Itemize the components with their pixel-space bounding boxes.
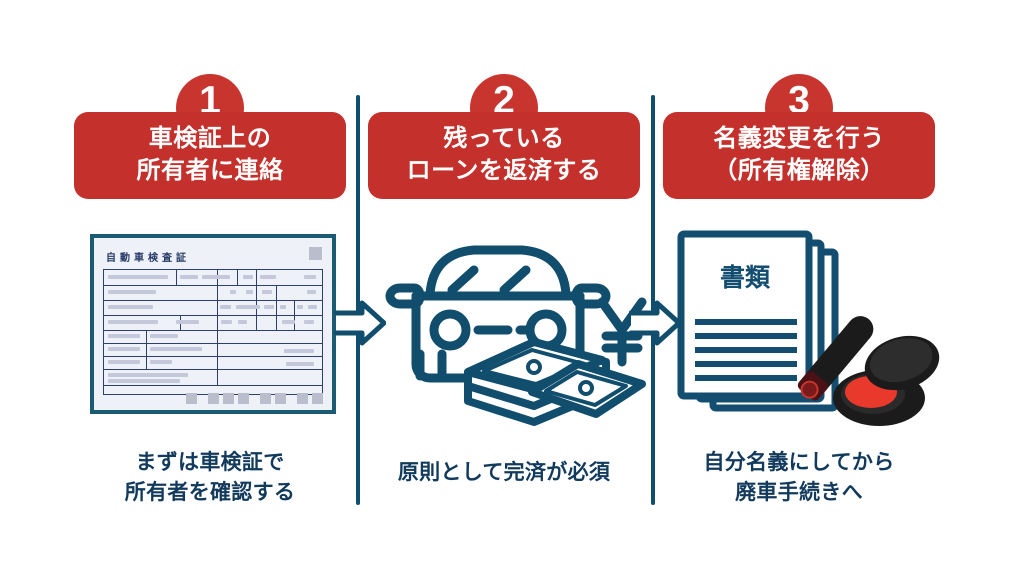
step-title-line: 残っている (376, 123, 632, 155)
caption-line: 廃車手続きへ (651, 478, 947, 508)
caption-line: 所有者を確認する (62, 478, 358, 508)
certificate-title: 自動車検査証 (106, 249, 323, 264)
step-column-3: 3 名義変更を行う （所有権解除） 書類 (651, 0, 947, 576)
step-caption-1: まずは車検証で 所有者を確認する (62, 448, 358, 508)
infographic-root: 1 車検証上の 所有者に連絡 自動車検査証 (0, 0, 1024, 576)
caption-line: まずは車検証で (62, 448, 358, 478)
illustration-car-cash (356, 226, 652, 426)
arrow-step1-to-step2 (334, 300, 386, 346)
step-caption-3: 自分名義にしてから 廃車手続きへ (651, 448, 947, 508)
documents-with-hanko-stamp-icon: 書類 (651, 226, 947, 426)
step-caption-2: 原則として完済が必須 (356, 458, 652, 488)
car-with-cash-and-yen-icon (356, 226, 652, 426)
caption-line: 原則として完済が必須 (356, 458, 652, 488)
step-column-1: 1 車検証上の 所有者に連絡 自動車検査証 (62, 0, 358, 576)
illustration-documents-hanko: 書類 (651, 226, 947, 426)
step-title-line: （所有権解除） (671, 155, 927, 187)
step-badge-1: 1 車検証上の 所有者に連絡 (62, 74, 358, 199)
caption-line: 自分名義にしてから (651, 448, 947, 478)
arrow-step2-to-step3 (629, 300, 681, 346)
step-title-line: ローンを返済する (376, 155, 632, 187)
documents-label: 書類 (720, 263, 771, 292)
step-title-line: 名義変更を行う (671, 123, 927, 155)
certificate-table-grid (103, 269, 323, 395)
vehicle-inspection-certificate-icon: 自動車検査証 (90, 234, 336, 414)
step-badge-3: 3 名義変更を行う （所有権解除） (651, 74, 947, 199)
certificate-corner-mark (309, 247, 322, 260)
step-title-box-2: 残っている ローンを返済する (368, 112, 640, 199)
certificate-footer-blocks (186, 393, 323, 404)
step-title-line: 車検証上の (82, 123, 338, 155)
step-title-box-3: 名義変更を行う （所有権解除） (663, 112, 935, 199)
step-badge-2: 2 残っている ローンを返済する (356, 74, 652, 199)
step-title-line: 所有者に連絡 (82, 155, 338, 187)
step-column-2: 2 残っている ローンを返済する (356, 0, 652, 576)
illustration-certificate: 自動車検査証 (62, 226, 358, 426)
step-title-box-1: 車検証上の 所有者に連絡 (74, 112, 346, 199)
